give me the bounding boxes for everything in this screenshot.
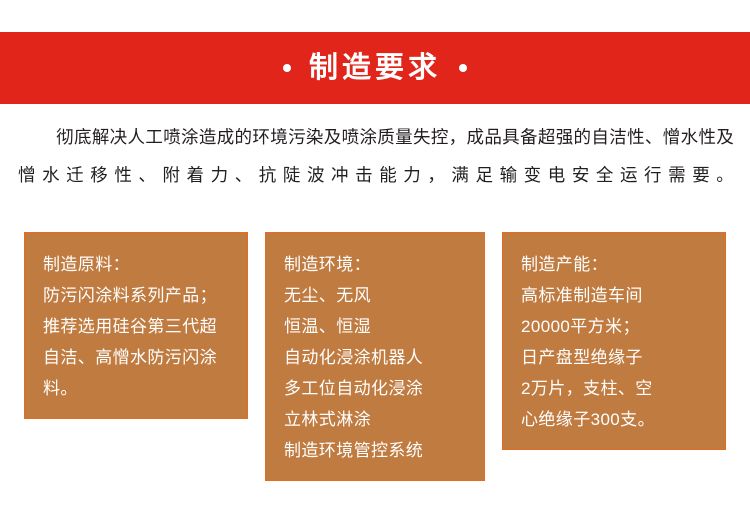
card-line: 料。 [43,373,229,404]
card-line: 2万片，支柱、空 [521,373,707,404]
header-inner: 制造要求 [283,54,467,83]
header-banner: 制造要求 [0,32,750,104]
intro-text: 彻底解决人工喷涂造成的环境污染及喷涂质量失控，成品具备超强的自洁性、憎水性及憎水… [18,127,734,185]
card-line: 制造原料： [43,249,229,280]
card-line: 自洁、高憎水防污闪涂 [43,342,229,373]
card-line: 制造环境： [284,249,466,280]
card-line: 高标准制造车间 [521,280,707,311]
card-line: 自动化浸涂机器人 [284,342,466,373]
cards-row: 制造原料： 防污闪涂料系列产品； 推荐选用硅谷第三代超 自洁、高憎水防污闪涂 料… [24,232,726,481]
card-line: 推荐选用硅谷第三代超 [43,311,229,342]
card-environment: 制造环境： 无尘、无风 恒温、恒湿 自动化浸涂机器人 多工位自动化浸涂 立林式淋… [265,232,485,481]
card-line: 制造产能： [521,249,707,280]
card-capacity: 制造产能： 高标准制造车间 20000平方米； 日产盘型绝缘子 2万片，支柱、空… [502,232,726,450]
card-line: 制造环境管控系统 [284,435,466,466]
card-line: 立林式淋涂 [284,404,466,435]
card-line: 心绝缘子300支。 [521,404,707,435]
card-line: 20000平方米； [521,311,707,342]
page-title: 制造要求 [309,54,441,83]
card-line: 无尘、无风 [284,280,466,311]
bullet-dot-right-icon [459,64,467,72]
card-materials: 制造原料： 防污闪涂料系列产品； 推荐选用硅谷第三代超 自洁、高憎水防污闪涂 料… [24,232,248,419]
card-line: 多工位自动化浸涂 [284,373,466,404]
bullet-dot-left-icon [283,64,291,72]
card-line: 恒温、恒湿 [284,311,466,342]
page-root: 制造要求 彻底解决人工喷涂造成的环境污染及喷涂质量失控，成品具备超强的自洁性、憎… [0,0,750,530]
card-line: 日产盘型绝缘子 [521,342,707,373]
intro-paragraph: 彻底解决人工喷涂造成的环境污染及喷涂质量失控，成品具备超强的自洁性、憎水性及憎水… [18,118,734,194]
card-line: 防污闪涂料系列产品； [43,280,229,311]
